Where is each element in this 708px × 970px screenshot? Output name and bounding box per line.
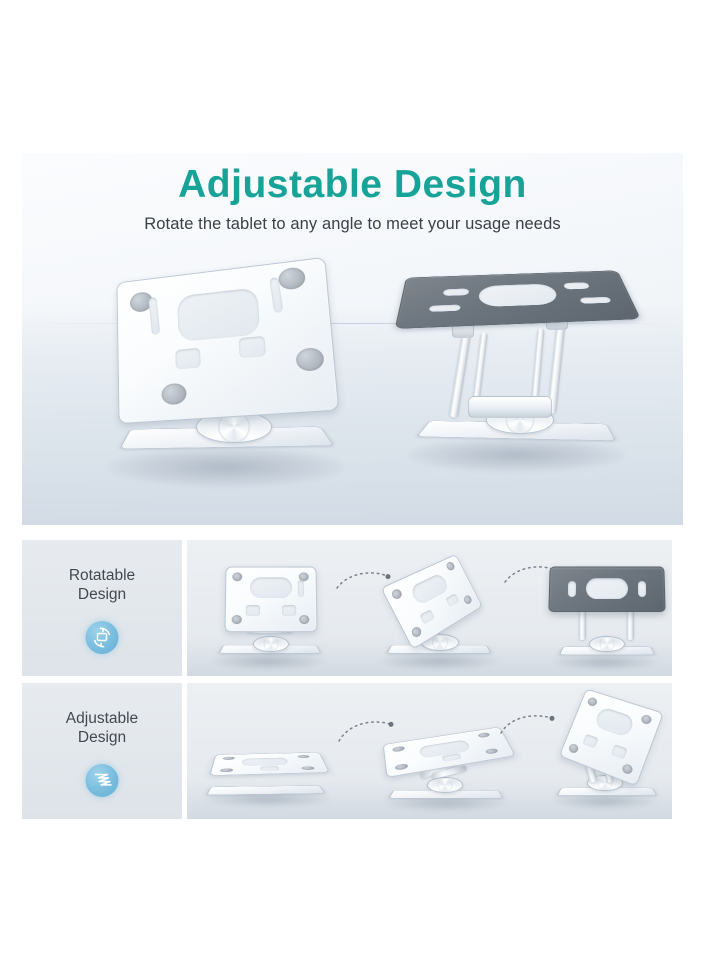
step-pad [297, 755, 309, 758]
step-stand-tilted-high [545, 695, 669, 811]
step-plate [224, 567, 317, 633]
step-hook [445, 593, 459, 607]
plate-hook-left [175, 348, 201, 370]
page-title: Adjustable Design [22, 165, 683, 204]
product-marketing-image: Adjustable Design Rotate the tablet to a… [0, 0, 708, 970]
feature-row-rotatable: Rotatable Design [22, 540, 672, 676]
plate-slot-far-right [579, 297, 611, 304]
step-hub [427, 777, 463, 793]
step-shadow [381, 652, 497, 670]
feature-label-line1: Rotatable [69, 567, 135, 584]
step-pad [392, 746, 405, 753]
angle-adjust-icon [86, 764, 119, 797]
feature-label-rotatable: Rotatable Design [22, 566, 182, 604]
plate-slot-right [563, 282, 590, 289]
step-pad [445, 561, 456, 572]
step-stand-rotated-45 [373, 558, 503, 670]
step-pad [640, 714, 653, 726]
plate-center-cutout [479, 283, 559, 307]
step-pad [390, 588, 403, 601]
plate-slot-left [443, 288, 469, 296]
hero-product-left [100, 261, 350, 496]
feature-label-line1: Adjustable [66, 710, 138, 727]
step-cutout [593, 706, 635, 738]
step-stand-rotated-rear [541, 562, 669, 670]
step-shadow [213, 652, 325, 670]
rotate-screen-icon [86, 621, 119, 654]
rubber-pad-tr [278, 266, 306, 290]
stand-top-plate [117, 257, 340, 424]
step-pad [410, 625, 423, 638]
rubber-pad-br [295, 347, 324, 372]
step-hub [253, 636, 289, 652]
step-pad [301, 766, 315, 770]
step-stand-folded-flat [199, 735, 339, 807]
step-stand-upright-front [203, 564, 333, 668]
step-pad [568, 743, 580, 754]
step-hook [582, 734, 598, 749]
feature-rows: Rotatable Design [22, 540, 672, 819]
step-pad [395, 763, 409, 770]
step-hook [260, 766, 279, 771]
step-plate-flat [209, 752, 330, 776]
step-hub [589, 636, 625, 652]
feature-label-panel-adjustable: Adjustable Design [22, 683, 182, 819]
step-cutout [242, 758, 289, 766]
step-plate-underside [548, 566, 665, 612]
plate-slot-left [148, 297, 160, 335]
step-cutout [409, 572, 450, 606]
step-slot [568, 581, 576, 597]
step-slot [638, 581, 646, 597]
hero-panel: Adjustable Design Rotate the tablet to a… [22, 153, 683, 525]
hero-product-right [394, 248, 644, 478]
step-pad [223, 757, 235, 760]
step-plate-tilted-high [559, 689, 664, 787]
step-pad [299, 615, 309, 624]
step-plate [381, 554, 483, 650]
product-shadow [408, 438, 624, 472]
step-pad [220, 768, 233, 772]
feature-label-adjustable: Adjustable Design [22, 709, 182, 747]
feature-label-line2: Design [22, 585, 182, 604]
plate-hook-right [239, 336, 266, 358]
step-cutout [250, 577, 292, 598]
hinge-bracket-bottom [468, 396, 552, 418]
feature-steps-rotatable [187, 540, 672, 676]
plate-center-cutout [177, 287, 260, 342]
step-hook [246, 605, 260, 616]
feature-label-line2: Design [22, 728, 182, 747]
feature-row-adjustable: Adjustable Design [22, 683, 672, 819]
step-pad [232, 615, 242, 624]
step-pad [621, 763, 634, 775]
page-subtitle: Rotate the tablet to any angle to meet y… [22, 215, 683, 234]
feature-label-panel-rotatable: Rotatable Design [22, 540, 182, 676]
step-hook [419, 609, 435, 624]
step-hook [611, 744, 628, 759]
step-pad [478, 732, 491, 738]
step-hook [282, 605, 296, 616]
step-slot [298, 580, 304, 597]
feature-steps-adjustable [187, 683, 672, 819]
rubber-pad-bl [161, 383, 186, 406]
stand-top-plate-underside [395, 270, 641, 329]
step-pad [587, 696, 599, 707]
plate-slot-far-left [429, 304, 461, 311]
step-shadow [553, 654, 657, 670]
step-stand-tilted-low [377, 717, 517, 811]
product-shadow [108, 447, 344, 487]
step-cutout [586, 578, 628, 599]
step-pad [232, 572, 242, 581]
step-pad [463, 594, 473, 605]
step-base [206, 785, 325, 795]
step-pad [485, 748, 499, 755]
step-hook [442, 753, 462, 762]
